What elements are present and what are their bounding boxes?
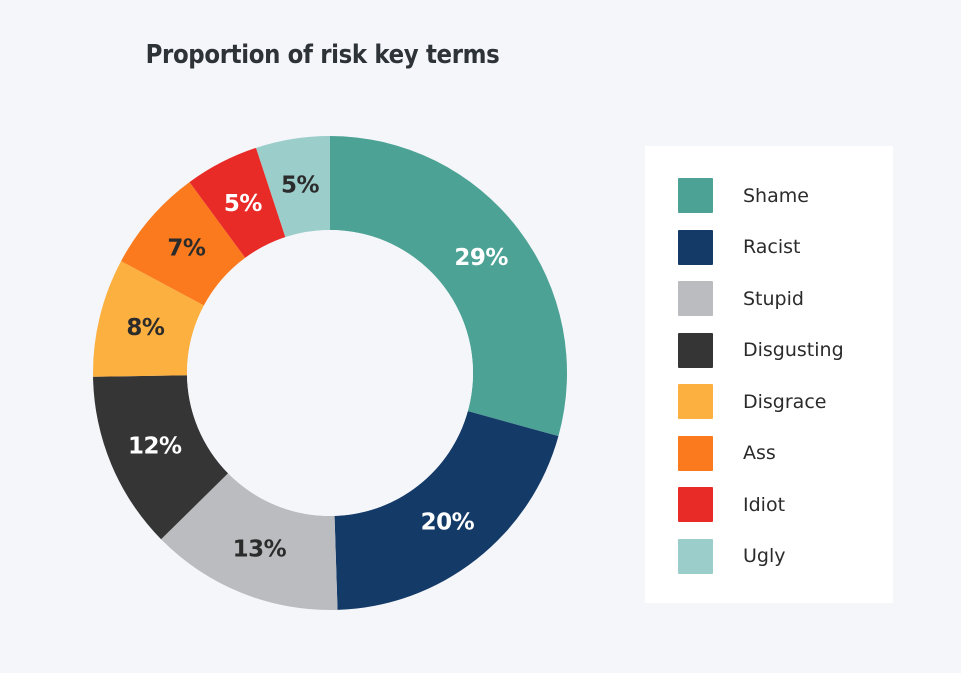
legend-item[interactable]: Racist bbox=[678, 222, 878, 274]
legend-swatch-ugly bbox=[678, 539, 713, 574]
legend-item-label: Idiot bbox=[743, 494, 785, 516]
donut-slice-label: 20% bbox=[421, 509, 475, 535]
donut-slice-label: 5% bbox=[224, 191, 263, 217]
donut-chart-svg: 29%20%13%12%8%7%5%5% bbox=[92, 135, 568, 611]
legend-item-label: Disgrace bbox=[743, 391, 826, 413]
donut-slice-label: 29% bbox=[454, 245, 508, 271]
legend-item[interactable]: Disgrace bbox=[678, 376, 878, 428]
legend-panel: ShameRacistStupidDisgustingDisgraceAssId… bbox=[645, 146, 893, 603]
legend-list: ShameRacistStupidDisgustingDisgraceAssId… bbox=[678, 170, 878, 582]
donut-slice-label: 8% bbox=[126, 315, 165, 341]
legend-item[interactable]: Idiot bbox=[678, 479, 878, 531]
legend-item[interactable]: Disgusting bbox=[678, 325, 878, 377]
legend-item-label: Shame bbox=[743, 185, 809, 207]
legend-item-label: Ugly bbox=[743, 545, 786, 567]
legend-swatch-idiot bbox=[678, 487, 713, 522]
legend-swatch-disgusting bbox=[678, 333, 713, 368]
legend-item-label: Ass bbox=[743, 442, 776, 464]
legend-item[interactable]: Ugly bbox=[678, 531, 878, 583]
donut-slice-label: 12% bbox=[128, 433, 182, 459]
legend-swatch-racist bbox=[678, 230, 713, 265]
legend-item[interactable]: Shame bbox=[678, 170, 878, 222]
legend-swatch-disgrace bbox=[678, 384, 713, 419]
donut-hole bbox=[187, 230, 473, 516]
donut-chart: 29%20%13%12%8%7%5%5% bbox=[92, 135, 568, 611]
legend-item[interactable]: Stupid bbox=[678, 273, 878, 325]
legend-item-label: Racist bbox=[743, 236, 801, 258]
legend-item-label: Stupid bbox=[743, 288, 804, 310]
legend-swatch-stupid bbox=[678, 281, 713, 316]
legend-swatch-shame bbox=[678, 178, 713, 213]
donut-slice-label: 13% bbox=[233, 536, 287, 562]
page-title: Proportion of risk key terms bbox=[39, 40, 607, 70]
legend-item-label: Disgusting bbox=[743, 339, 844, 361]
donut-slice-label: 5% bbox=[281, 172, 320, 198]
legend-item[interactable]: Ass bbox=[678, 428, 878, 480]
chart-container: Proportion of risk key terms 29%20%13%12… bbox=[0, 0, 961, 673]
legend-swatch-ass bbox=[678, 436, 713, 471]
donut-slice-label: 7% bbox=[167, 236, 206, 262]
